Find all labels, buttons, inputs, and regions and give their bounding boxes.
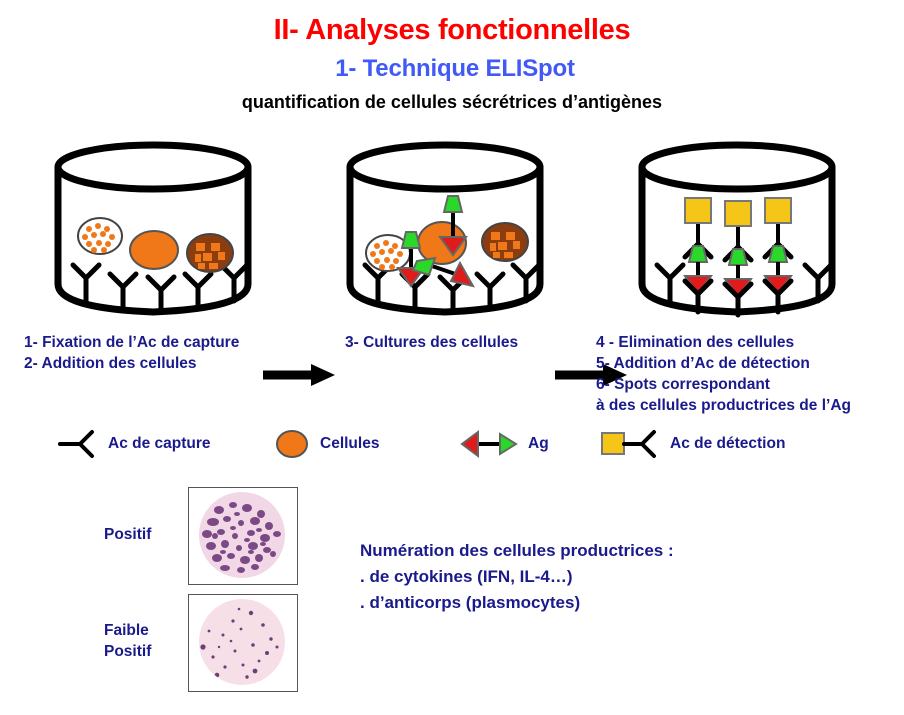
- step-item: 3- Cultures des cellules: [345, 332, 575, 353]
- step-item: 2- Addition des cellules: [24, 353, 324, 374]
- legend-item-cells: Cellules: [274, 424, 379, 464]
- summary-line: Numération des cellules productrices :: [360, 538, 674, 564]
- legend-label: Ac de détection: [670, 435, 785, 453]
- diagram-legend: Ac de capture Cellules Ag Ac de détectio…: [0, 424, 904, 466]
- page-subtitle: 1- Technique ELISpot: [0, 55, 904, 83]
- legend-label: Ac de capture: [108, 435, 211, 453]
- well-step-3: [340, 140, 555, 320]
- step-item: 4 - Elimination des cellules: [596, 332, 904, 353]
- plate-label-positif: Positif: [104, 524, 151, 545]
- plate-label-line: Faible: [104, 620, 151, 641]
- detection-antibody-icon: [598, 427, 660, 461]
- elispot-process-diagram: [0, 140, 904, 325]
- step-item: à des cellules productrices de l’Ag: [596, 395, 904, 416]
- plate-faible-positif: [188, 594, 298, 692]
- summary-line: . de cytokines (IFN, IL-4…): [360, 564, 674, 590]
- plate-label-faible-positif: Faible Positif: [104, 620, 151, 662]
- step-item: 1- Fixation de l’Ac de capture: [24, 332, 324, 353]
- summary-text: Numération des cellules productrices : .…: [360, 538, 674, 616]
- speckled-cell: [78, 218, 122, 254]
- plate-label-line: Positif: [104, 641, 151, 662]
- page-title: II- Analyses fonctionnelles: [0, 14, 904, 47]
- legend-label: Cellules: [320, 435, 379, 453]
- well-step-4-5-6: [632, 140, 847, 320]
- step-item: 5- Addition d’Ac de détection: [596, 353, 904, 374]
- legend-item-detection-antibody: Ac de détection: [598, 424, 785, 464]
- well-step-1-2: [48, 140, 263, 320]
- checkered-cell: [482, 223, 528, 261]
- steps-column-middle: 3- Cultures des cellules: [345, 332, 575, 353]
- legend-item-capture-antibody: Ac de capture: [58, 424, 211, 464]
- antigen-icon: [460, 428, 518, 460]
- plate-positif: [188, 487, 298, 585]
- steps-column-right: 4 - Elimination des cellules 5- Addition…: [596, 332, 904, 416]
- checkered-cell: [187, 234, 233, 272]
- steps-column-left: 1- Fixation de l’Ac de capture 2- Additi…: [24, 332, 324, 374]
- capture-antibody-icon: [58, 428, 98, 460]
- page-description: quantification de cellules sécrétrices d…: [0, 92, 904, 113]
- legend-label: Ag: [528, 435, 549, 453]
- step-item: 6- Spots correspondant: [596, 374, 904, 395]
- legend-item-antigen: Ag: [460, 424, 549, 464]
- summary-line: . d’anticorps (plasmocytes): [360, 590, 674, 616]
- solid-cell: [130, 231, 178, 269]
- cell-icon: [274, 428, 310, 460]
